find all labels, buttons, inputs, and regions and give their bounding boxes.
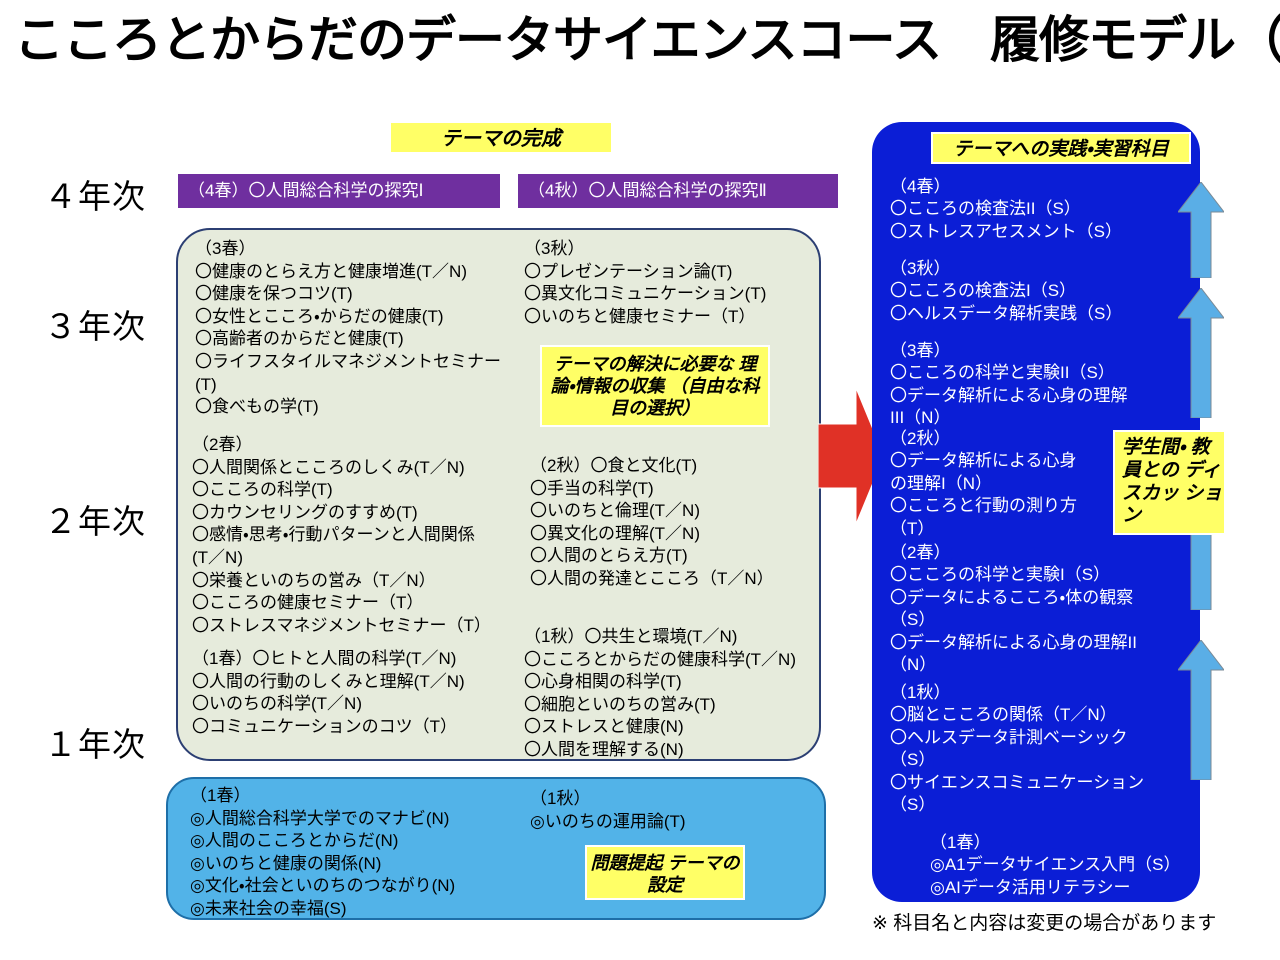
block-header: （1秋） [890,682,1158,704]
course-item: 〇こころの科学(T) [192,479,532,502]
course-item: 〇こころの検査法II（S） [890,198,1158,220]
course-item: 〇こころの科学と実験I（S） [890,564,1158,586]
year4-autumn-bar: （4秋）〇人間総合科学の探究Ⅱ [518,174,838,208]
course-block-y2-autumn: （2秋）〇食と文化(T) 〇手当の科学(T) 〇いのちと倫理(T／N) 〇異文化… [530,455,820,591]
block-header: （4春） [890,176,1158,198]
course-item: ◎いのちの運用論(T) [530,811,810,834]
course-item: 〇コミュニケーションのコツ（T） [192,716,532,739]
block-header: （1春）〇ヒトと人間の科学(T／N) [192,648,532,671]
course-item: 〇ストレスマネジメントセミナー（T） [192,615,532,638]
block-header: （1秋） [530,788,810,811]
practical-block-y2-autumn: （2秋） 〇データ解析による心身 の理解I（N） 〇こころと行動の測り方 （T） [890,428,1100,540]
course-item: 〇感情・思考・行動パターンと人間関係 (T／N) [192,524,532,569]
block-header: （2春） [192,434,532,457]
block-header: （3春） [195,238,525,261]
course-block-y1-autumn: （1秋）〇共生と環境(T／N) 〇こころとからだの健康科学(T／N) 〇心身相関… [524,626,824,762]
course-item: ◎A1データサイエンス入門（S） [930,854,1180,876]
course-block-foundation-spring: （1春） ◎人間総合科学大学でのマナビ(N) ◎人間のこころとからだ(N) ◎い… [190,785,520,921]
blue-up-arrow-icon [1178,640,1224,780]
course-item: ◎未来社会の幸福(S) [190,898,520,921]
course-item: 〇こころの科学と実験II（S） [890,362,1158,384]
callout-theme-solution: テーマの解決に必要な 理論・情報の収集 （自由な科目の選択） [540,345,770,427]
course-block-y1-spring: （1春）〇ヒトと人間の科学(T／N) 〇人間の行動のしくみと理解(T／N) 〇い… [192,648,532,738]
block-header: （3春） [890,340,1158,362]
course-item: 〇異文化の理解(T／N) [530,523,820,546]
course-item: 〇カウンセリングのすすめ(T) [192,502,532,525]
block-header: （2秋） [890,428,1100,450]
course-item: ◎人間総合科学大学でのマナビ(N) [190,808,520,831]
course-item: 〇健康のとらえ方と健康増進(T／N) [195,261,525,284]
course-item: 〇女性とこころ・からだの健康(T) [195,306,525,329]
block-header: （1春） [190,785,520,808]
course-item: 〇サイエンスコミュニケーション （S） [890,772,1158,817]
course-item: 〇ストレスアセスメント（S） [890,221,1158,243]
course-item: 〇異文化コミュニケーション(T) [524,283,824,306]
course-block-y2-spring: （2春） 〇人間関係とこころのしくみ(T／N) 〇こころの科学(T) 〇カウンセ… [192,434,532,637]
course-item: 〇脳とこころの関係（T／N） [890,704,1158,726]
course-item: 〇データ解析による心身の理解 III（N） [890,385,1158,430]
course-item: 〇高齢者のからだと健康(T) [195,328,525,351]
callout-problem-setting: 問題提起 テーマの設定 [585,845,745,900]
blue-up-arrow-icon [1178,288,1224,418]
slide-canvas: こころとからだのデータサイエンスコース 履修モデル（例） ４年次 ３年次 ２年次… [0,0,1280,960]
course-block-y3-spring: （3春） 〇健康のとらえ方と健康増進(T／N) 〇健康を保つコツ(T) 〇女性と… [195,238,525,419]
practical-block-y1-spring: （1春） ◎A1データサイエンス入門（S） ◎AIデータ活用リテラシー [930,832,1180,899]
course-item: ◎文化・社会といのちのつながり(N) [190,875,520,898]
course-item: 〇人間を理解する(N) [524,739,824,762]
course-item: 〇健康を保つコツ(T) [195,283,525,306]
course-item: 〇こころの検査法I（S） [890,280,1158,302]
course-item: 〇ヘルスデータ解析実践（S） [890,303,1158,325]
block-header: （1春） [930,832,1180,854]
callout-theme-completion: テーマの完成 [389,121,613,154]
year-label-3: ３年次 [44,300,184,348]
course-item: 〇ストレスと健康(N) [524,716,824,739]
course-item: 〇心身相関の科学(T) [524,671,824,694]
course-item: 〇細胞といのちの営み(T) [524,694,824,717]
course-item: 〇こころと行動の測り方 （T） [890,495,1100,540]
course-item: 〇人間のとらえ方(T) [530,545,820,568]
practical-block-y4-spring: （4春） 〇こころの検査法II（S） 〇ストレスアセスメント（S） [890,176,1158,243]
year-label-1: １年次 [44,718,184,766]
course-item: 〇プレゼンテーション論(T) [524,261,824,284]
block-header: （3秋） [890,258,1158,280]
block-header: （1秋）〇共生と環境(T／N) [524,626,824,649]
block-header: （2春） [890,542,1158,564]
course-item: 〇いのちの科学(T／N) [192,693,532,716]
course-item: ◎AIデータ活用リテラシー [930,877,1180,899]
year4-spring-bar: （4春）〇人間総合科学の探究Ⅰ [178,174,500,208]
course-item: 〇データ解析による心身の理解II （N） [890,632,1158,677]
course-item: 〇栄養といのちの営み（T／N） [192,570,532,593]
course-item: 〇人間関係とこころのしくみ(T／N) [192,457,532,480]
blue-up-arrow-icon [1178,182,1224,278]
practical-block-y1-autumn: （1秋） 〇脳とこころの関係（T／N） 〇ヘルスデータ計測ベーシック （S） 〇… [890,682,1158,817]
course-item: 〇データによるこころ・体の観察 （S） [890,587,1158,632]
callout-theme-practice: テーマへの実践・実習科目 [931,132,1191,164]
page-title: こころとからだのデータサイエンスコース 履修モデル（例） [14,14,1269,67]
practical-block-y2-spring: （2春） 〇こころの科学と実験I（S） 〇データによるこころ・体の観察 （S） … [890,542,1158,677]
course-block-foundation-autumn: （1秋） ◎いのちの運用論(T) [530,788,810,833]
practical-block-y3-autumn: （3秋） 〇こころの検査法I（S） 〇ヘルスデータ解析実践（S） [890,258,1158,325]
course-item: 〇データ解析による心身 の理解I（N） [890,450,1100,495]
course-item: 〇手当の科学(T) [530,478,820,501]
course-item: 〇こころの健康セミナー（T） [192,592,532,615]
block-header: （2秋）〇食と文化(T) [530,455,820,478]
course-item: 〇こころとからだの健康科学(T／N) [524,649,824,672]
practical-block-y3-spring: （3春） 〇こころの科学と実験II（S） 〇データ解析による心身の理解 III（… [890,340,1158,430]
course-item: 〇ライフスタイルマネジメントセミナー (T) [195,351,525,396]
course-item: 〇人間の行動のしくみと理解(T／N) [192,671,532,694]
course-item: 〇ヘルスデータ計測ベーシック （S） [890,727,1158,772]
footnote: ※ 科目名と内容は変更の場合があります [872,908,1272,935]
course-item: 〇いのちと健康セミナー（T） [524,306,824,329]
course-item: 〇食べもの学(T) [195,396,525,419]
course-item: 〇いのちと倫理(T／N) [530,500,820,523]
course-item: ◎いのちと健康の関係(N) [190,853,520,876]
block-header: （3秋） [524,238,824,261]
callout-discussion: 学生間・ 教員との ディスカッ ション [1113,430,1226,535]
year-label-2: ２年次 [44,495,184,543]
course-item: 〇人間の発達とこころ（T／N） [530,568,820,591]
year-label-4: ４年次 [44,170,184,218]
course-item: ◎人間のこころとからだ(N) [190,830,520,853]
course-block-y3-autumn: （3秋） 〇プレゼンテーション論(T) 〇異文化コミュニケーション(T) 〇いの… [524,238,824,328]
